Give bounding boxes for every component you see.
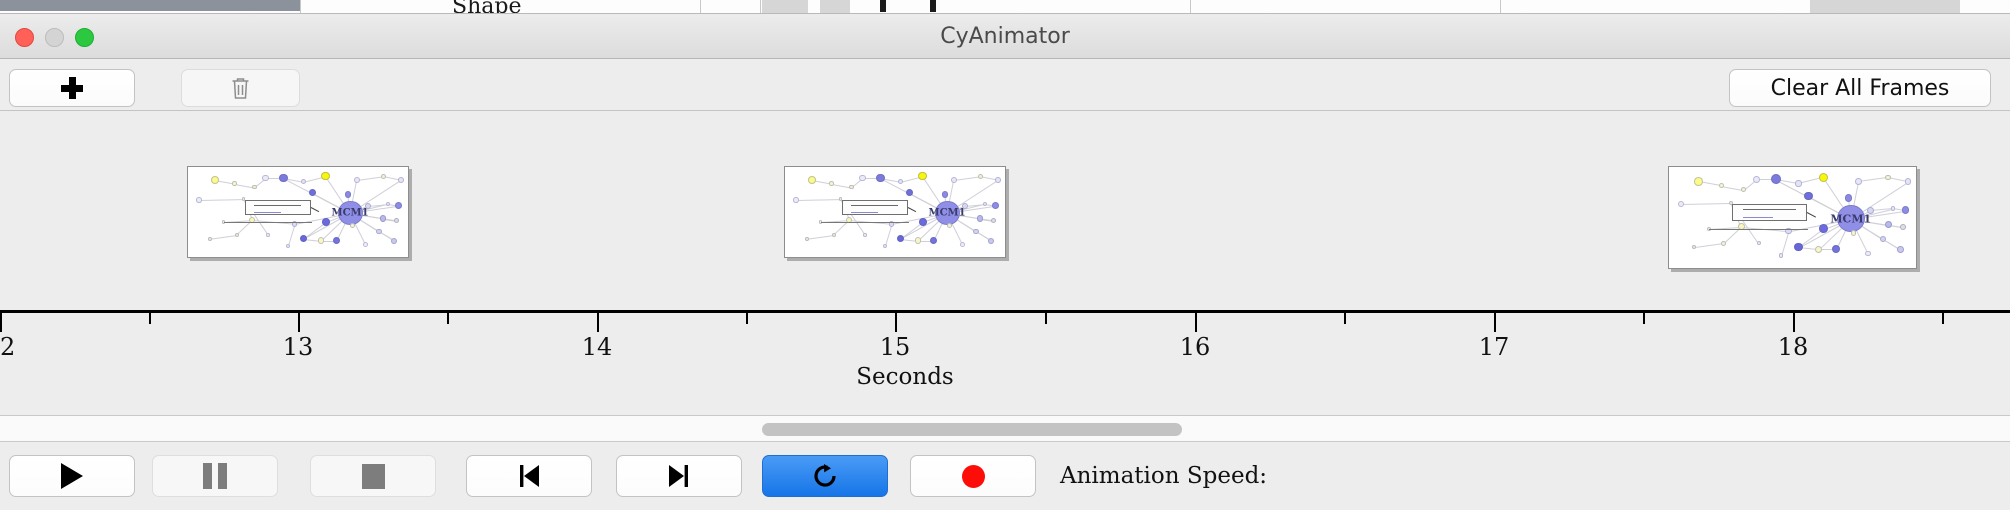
- tooltip-text-line: [851, 212, 878, 213]
- network-node: [1794, 243, 1802, 251]
- network-caption-line: [821, 222, 910, 223]
- network-node: [930, 237, 937, 244]
- network-node: [978, 174, 983, 179]
- stop-button[interactable]: [310, 455, 436, 497]
- network-node: [863, 233, 866, 236]
- network-node: [919, 218, 927, 226]
- network-node: [983, 202, 987, 206]
- play-button[interactable]: [9, 455, 135, 497]
- network-node: [391, 238, 397, 244]
- loop-button[interactable]: [762, 455, 888, 497]
- network-node: [1804, 192, 1812, 200]
- skip-forward-button[interactable]: [616, 455, 742, 497]
- axis-tick: [149, 313, 151, 324]
- axis-tick: [1643, 313, 1645, 324]
- network-node: [211, 176, 219, 184]
- tooltip-connector: [908, 208, 916, 213]
- network-node: [1885, 175, 1891, 181]
- network-edge: [1681, 203, 1731, 205]
- timeline-scrollbar[interactable]: [0, 416, 2010, 442]
- axis-tick-label: 18: [1778, 333, 1809, 361]
- axis-tick-label: 15: [880, 333, 911, 361]
- network-edge: [357, 176, 384, 181]
- network-caption-line: [1709, 229, 1809, 230]
- frame-toolbar: Clear All Frames: [0, 59, 2010, 111]
- tooltip-text-line: [254, 205, 301, 206]
- skip-back-icon: [517, 463, 541, 489]
- network-node: [1815, 246, 1822, 253]
- axis-tick-label: 16: [1180, 333, 1211, 361]
- network-node: [977, 215, 983, 221]
- network-node: [1851, 230, 1856, 235]
- network-node: [208, 237, 212, 241]
- record-button[interactable]: [910, 455, 1036, 497]
- network-node: [973, 229, 979, 235]
- network-node: [1757, 241, 1761, 245]
- axis-tick: [597, 313, 599, 332]
- network-tooltip: [1732, 204, 1807, 222]
- window-traffic-lights: [15, 28, 94, 47]
- network-node: [1692, 245, 1696, 249]
- network-node: [991, 218, 996, 223]
- network-node: [1721, 241, 1726, 246]
- axis-tick-label: 17: [1479, 333, 1510, 361]
- network-node: [995, 177, 1001, 183]
- network-node: [1753, 176, 1760, 183]
- network-node: [318, 237, 325, 244]
- animation-speed-label: Animation Speed:: [1060, 455, 1267, 497]
- network-node: [832, 233, 836, 237]
- axis-tick: [447, 313, 449, 324]
- pause-button[interactable]: [152, 455, 278, 497]
- network-edge: [210, 235, 237, 240]
- background-window-strip: Shape: [0, 0, 2010, 14]
- clear-all-frames-label: Clear All Frames: [1771, 76, 1950, 101]
- tooltip-connector: [1807, 212, 1816, 218]
- network-node: [376, 229, 382, 235]
- record-icon: [962, 465, 985, 488]
- network-node: [1865, 251, 1870, 256]
- network-node: [262, 175, 268, 181]
- network-edge: [796, 199, 840, 201]
- network-node: [252, 185, 256, 189]
- background-mark: [880, 0, 886, 12]
- axis-tick-label: 12: [0, 333, 15, 361]
- network-node: [988, 238, 994, 244]
- background-cell: [820, 0, 850, 13]
- skip-forward-icon: [667, 463, 691, 489]
- network-node: [363, 242, 368, 247]
- zoom-button[interactable]: [75, 28, 94, 47]
- network-node: [897, 235, 904, 242]
- network-node: [951, 177, 957, 183]
- axis-tick-label: 14: [582, 333, 613, 361]
- network-node: [992, 202, 999, 209]
- frame-thumbnail[interactable]: MCM1: [1668, 166, 1917, 269]
- network-hub-label: MCM1: [332, 208, 369, 219]
- network-node: [1819, 224, 1828, 233]
- network-node: [1900, 224, 1906, 230]
- background-mark: [930, 0, 936, 12]
- clear-all-frames-button[interactable]: Clear All Frames: [1729, 69, 1991, 107]
- network-node: [1891, 206, 1896, 211]
- title-bar: CyAnimator: [0, 14, 2010, 59]
- tooltip-text-line: [1743, 209, 1795, 210]
- axis-title: Seconds: [0, 364, 2010, 390]
- network-node: [398, 177, 404, 183]
- network-node: [849, 185, 853, 189]
- tooltip-text-line: [254, 212, 281, 213]
- network-node: [1845, 194, 1852, 201]
- pause-icon: [203, 463, 227, 489]
- network-node: [1694, 177, 1703, 186]
- cyanimator-window: Shape CyAnimator Clear All Frames MCM1MC…: [0, 0, 2010, 510]
- network-node: [395, 202, 402, 209]
- network-node: [859, 175, 865, 181]
- network-node: [1885, 221, 1892, 228]
- network-edge: [1858, 177, 1888, 182]
- network-node: [350, 223, 355, 228]
- background-cell: [1810, 0, 1960, 13]
- loop-icon: [811, 462, 839, 490]
- network-node: [322, 218, 330, 226]
- axis-tick: [1195, 313, 1197, 332]
- network-node: [1779, 253, 1784, 258]
- network-node: [1795, 180, 1801, 186]
- axis-tick: [1793, 313, 1795, 332]
- network-node: [380, 215, 386, 221]
- network-node: [1741, 187, 1746, 192]
- network-edge: [807, 235, 834, 240]
- network-node: [300, 235, 307, 242]
- network-node: [1902, 206, 1910, 214]
- network-node: [394, 218, 399, 223]
- network-node: [1855, 178, 1862, 185]
- network-caption-line: [224, 222, 313, 223]
- tooltip-text-line: [1743, 217, 1773, 218]
- network-node: [196, 197, 201, 202]
- background-shape-label: Shape: [452, 0, 521, 14]
- axis-tick: [298, 313, 300, 332]
- network-hub-label: MCM1: [1830, 212, 1871, 225]
- axis-tick: [895, 313, 897, 332]
- network-edge: [199, 199, 243, 201]
- network-node: [354, 177, 360, 183]
- background-cell: [762, 0, 808, 13]
- network-node: [386, 202, 390, 206]
- background-divider: [1190, 0, 1191, 13]
- stop-icon: [362, 464, 385, 489]
- network-node: [960, 242, 965, 247]
- network-node: [947, 223, 952, 228]
- network-node: [1897, 246, 1904, 253]
- axis-tick: [1942, 313, 1944, 324]
- play-icon: [61, 463, 83, 489]
- background-divider: [760, 0, 761, 13]
- playback-control-bar: Animation Speed:: [0, 442, 2010, 510]
- frame-thumbnail[interactable]: MCM1: [784, 166, 1006, 258]
- network-node: [266, 233, 269, 236]
- background-window-titlebar: [0, 0, 300, 11]
- network-node: [286, 244, 290, 248]
- network-tooltip: [245, 200, 312, 216]
- timeline-panel[interactable]: MCM1MCM1MCM1 12131415161718 Seconds: [0, 111, 2010, 416]
- network-node: [883, 244, 887, 248]
- network-node: [1678, 201, 1684, 207]
- network-node: [898, 179, 903, 184]
- network-node: [321, 172, 330, 181]
- network-node: [1719, 183, 1724, 188]
- timeline-axis-line: [0, 310, 2010, 313]
- network-node: [235, 233, 239, 237]
- plus-icon: [61, 77, 83, 99]
- network-graph: MCM1: [785, 167, 1005, 257]
- network-node: [1905, 178, 1911, 184]
- network-tooltip: [842, 200, 909, 216]
- axis-tick: [0, 313, 2, 332]
- network-graph: MCM1: [188, 167, 408, 257]
- network-node: [345, 191, 352, 198]
- network-node: [232, 181, 237, 186]
- network-node: [829, 181, 834, 186]
- close-button[interactable]: [15, 28, 34, 47]
- axis-tick: [1494, 313, 1496, 332]
- tooltip-text-line: [851, 205, 898, 206]
- network-node: [793, 197, 798, 202]
- background-divider: [1500, 0, 1501, 13]
- network-node: [333, 237, 340, 244]
- skip-back-button[interactable]: [466, 455, 592, 497]
- network-node: [918, 172, 927, 181]
- network-edge: [954, 176, 981, 181]
- minimize-button[interactable]: [45, 28, 64, 47]
- add-frame-button[interactable]: [9, 69, 135, 107]
- tooltip-connector: [311, 208, 319, 213]
- network-node: [1832, 245, 1840, 253]
- axis-tick: [746, 313, 748, 324]
- network-node: [301, 179, 306, 184]
- background-divider: [700, 0, 701, 13]
- network-node: [915, 237, 922, 244]
- delete-frame-button[interactable]: [181, 69, 300, 107]
- frame-thumbnail[interactable]: MCM1: [187, 166, 409, 258]
- network-node: [381, 174, 386, 179]
- network-hub-label: MCM1: [929, 208, 966, 219]
- trash-icon: [230, 76, 251, 100]
- timeline-scrollbar-thumb[interactable]: [762, 423, 1182, 436]
- axis-tick-label: 13: [283, 333, 314, 361]
- axis-tick: [1344, 313, 1346, 324]
- network-node: [1819, 173, 1829, 183]
- network-node: [805, 237, 809, 241]
- network-node: [808, 176, 816, 184]
- axis-tick: [1045, 313, 1047, 324]
- network-graph: MCM1: [1669, 167, 1916, 268]
- window-title: CyAnimator: [0, 14, 2010, 59]
- network-edge: [1694, 243, 1724, 248]
- network-node: [942, 191, 949, 198]
- background-divider: [300, 0, 301, 13]
